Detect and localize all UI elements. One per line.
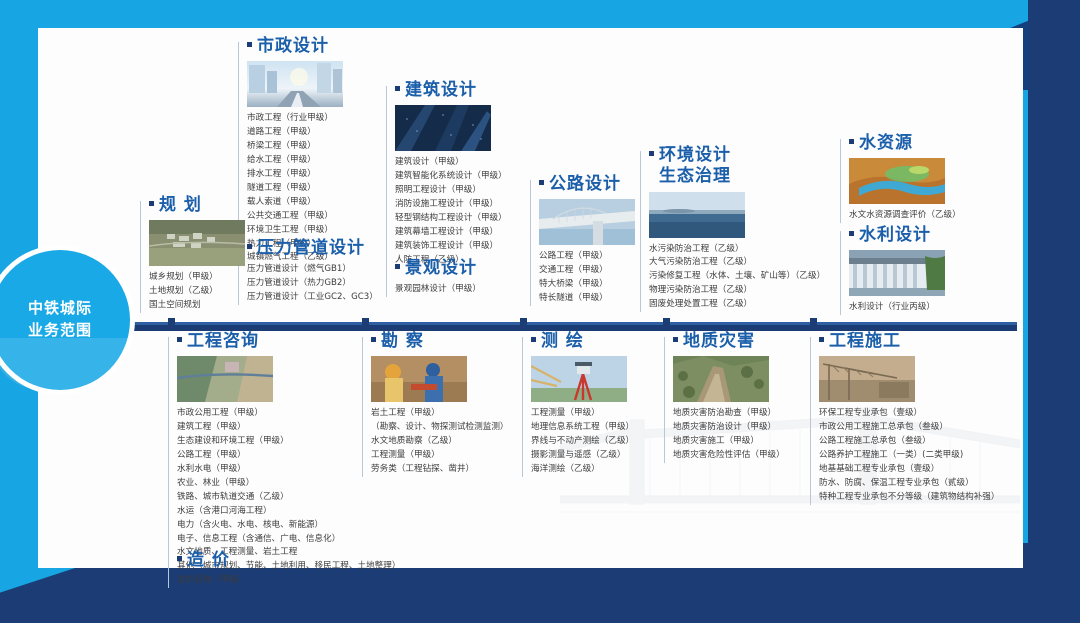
block-item-list: 造价咨询（甲级） xyxy=(177,574,298,588)
thumbnail-aerial-village-photo xyxy=(149,220,245,266)
square-bullet-icon xyxy=(819,337,824,342)
connector-line xyxy=(840,231,841,315)
timeline-tick xyxy=(663,318,670,325)
timeline-bar-highlight xyxy=(92,322,1017,325)
block-item-list: 建筑设计（甲级） 建筑智能化系统设计（甲级） 照明工程设计（甲级） 消防设施工程… xyxy=(395,156,516,267)
square-bullet-icon xyxy=(371,337,376,342)
list-item: 地质灾害防治设计（甲级） xyxy=(673,421,814,435)
block-item-list: 地质灾害防治勘查（甲级） 地质灾害防治设计（甲级） 地质灾害施工（甲级） 地质灾… xyxy=(673,407,814,463)
square-bullet-icon xyxy=(849,231,854,236)
connector-line xyxy=(810,337,811,505)
block-item-list: 岩土工程（甲级） （勘察、设计、物探测试检测监测） 水文地质勘察（乙级） 工程测… xyxy=(371,407,522,477)
block-landscape-design[interactable]: 景观设计 景观园林设计（甲级） xyxy=(386,258,516,297)
thumbnail-theodolite-photo xyxy=(531,356,627,402)
connector-line xyxy=(140,201,141,313)
block-heading: 建筑设计 xyxy=(395,80,516,101)
list-item: 界线与不动产测绘（乙级） xyxy=(531,435,672,449)
block-pressure-pipe-design[interactable]: 压力管道设计 压力管道设计（燃气GB1） 压力管道设计（热力GB2） 压力管道设… xyxy=(238,238,398,305)
list-item: 岩土工程（甲级） xyxy=(371,407,522,421)
block-water-conservancy-design[interactable]: 水利设计 水 xyxy=(840,225,970,315)
list-item: 物理污染防治工程（乙级） xyxy=(649,284,830,298)
thumbnail-survey-worker-photo xyxy=(371,356,467,402)
block-surveying-mapping[interactable]: 测 绘 工程测量（甲级） 地理信息系统工程（甲 xyxy=(522,331,672,477)
list-item: 地质灾害防治勘查（甲级） xyxy=(673,407,814,421)
bubble-title-line2: 业务范围 xyxy=(28,320,92,342)
list-item: 建筑智能化系统设计（甲级） xyxy=(395,170,516,184)
connector-line xyxy=(362,337,363,477)
list-item: 水污染防治工程（乙级） xyxy=(649,243,830,257)
list-item: 景观园林设计（甲级） xyxy=(395,283,516,297)
block-water-resources[interactable]: 水资源 水文水资源调查评价（乙级） xyxy=(840,133,970,223)
square-bullet-icon xyxy=(149,201,154,206)
list-item: 防水、防腐、保温工程专业承包（贰级） xyxy=(819,477,1040,491)
block-item-list: 水利设计（行业丙级） xyxy=(849,301,970,315)
timeline-tick xyxy=(810,318,817,325)
connector-line xyxy=(386,86,387,268)
block-heading: 公路设计 xyxy=(539,174,640,195)
square-bullet-icon xyxy=(395,86,400,91)
block-heading: 景观设计 xyxy=(395,258,516,279)
block-environment-design[interactable]: 环境设计 生态治理 水污染防治工程（乙级） 大气污染防治工程（乙级） 污染修复工… xyxy=(640,145,830,312)
square-bullet-icon xyxy=(649,151,654,156)
list-item: 建筑设计（甲级） xyxy=(395,156,516,170)
list-item: 固废处理处置工程（乙级） xyxy=(649,298,830,312)
list-item: 大气污染防治工程（乙级） xyxy=(649,256,830,270)
list-item: 载人索道（甲级） xyxy=(247,196,358,210)
block-heading-line2: 生态治理 xyxy=(649,166,830,187)
block-planning[interactable]: 规 划 城乡规划（甲级） 土地规划（乙级） 国土 xyxy=(140,195,260,313)
block-item-list: 景观园林设计（甲级） xyxy=(395,283,516,297)
list-item: 排水工程（甲级） xyxy=(247,168,358,182)
list-item: 国土空间规划 xyxy=(149,299,260,313)
list-item: 特大桥梁（甲级） xyxy=(539,278,640,292)
connector-line xyxy=(840,139,841,223)
square-bullet-icon xyxy=(531,337,536,342)
thumbnail-city-road-photo xyxy=(247,61,343,107)
block-item-list: 压力管道设计（燃气GB1） 压力管道设计（热力GB2） 压力管道设计（工业GC2… xyxy=(247,263,398,305)
list-item: 铁路、城市轨道交通（乙级） xyxy=(177,491,418,505)
block-item-list: 公路工程（甲级） 交通工程（甲级） 特大桥梁（甲级） 特长隧道（甲级） xyxy=(539,250,640,306)
thumbnail-building-facade-photo xyxy=(395,105,491,151)
block-architecture-design[interactable]: 建筑设计 建筑设计（甲级） 建筑智能化系统设计（甲级） xyxy=(386,80,516,268)
list-item: 工程测量（甲级） xyxy=(531,407,672,421)
block-heading: 市政设计 xyxy=(247,36,358,57)
block-highway-design[interactable]: 公路设计 公路工程（甲级） 交通工程（甲级） 特大桥梁（甲级） xyxy=(530,174,640,306)
list-item: 电力（含火电、水电、核电、新能源） xyxy=(177,519,418,533)
block-engineering-construction[interactable]: 工程施工 环保工程专业承包（壹级） 市政公用 xyxy=(810,331,1040,505)
block-heading: 测 绘 xyxy=(531,331,672,352)
list-item: 照明工程设计（甲级） xyxy=(395,184,516,198)
list-item: 地理信息系统工程（甲级） xyxy=(531,421,672,435)
square-bullet-icon xyxy=(539,180,544,185)
list-item: 农业、林业（甲级） xyxy=(177,477,418,491)
square-bullet-icon xyxy=(395,264,400,269)
list-item: 轻型钢结构工程设计（甲级） xyxy=(395,212,516,226)
connector-line xyxy=(664,337,665,463)
block-cost-estimation[interactable]: 造 价 造价咨询（甲级） xyxy=(168,550,298,588)
list-item: 建筑装饰工程设计（甲级） xyxy=(395,240,516,254)
infographic-canvas: 中铁城际 业务范围 市政设计 xyxy=(0,0,1080,623)
list-item: 水运（含港口河海工程） xyxy=(177,505,418,519)
list-item: 公路工程（甲级） xyxy=(539,250,640,264)
list-item: 地质灾害危险性评估（甲级） xyxy=(673,449,814,463)
list-item: 市政工程（行业甲级） xyxy=(247,112,358,126)
block-heading: 水资源 xyxy=(849,133,970,154)
list-item: 交通工程（甲级） xyxy=(539,264,640,278)
list-item: 环保工程专业承包（壹级） xyxy=(819,407,1040,421)
thumbnail-highway-bridge-photo xyxy=(539,199,635,245)
block-item-list: 工程测量（甲级） 地理信息系统工程（甲级） 界线与不动产测绘（乙级） 摄影测量与… xyxy=(531,407,672,477)
list-item: 压力管道设计（工业GC2、GC3） xyxy=(247,291,398,305)
thumbnail-dam-spillway-photo xyxy=(849,250,945,296)
list-item: 土地规划（乙级） xyxy=(149,285,260,299)
block-geological-hazard[interactable]: 地质灾害 地质灾害防治勘查（甲级） 地质灾害防治设计（甲级） 地质灾害施工（ xyxy=(664,331,814,463)
square-bullet-icon xyxy=(177,556,182,561)
thumbnail-construction-crane-photo xyxy=(819,356,915,402)
list-item: 道路工程（甲级） xyxy=(247,126,358,140)
block-survey[interactable]: 勘 察 岩土工程（甲级） （勘察、设计、物探测试检测监测） 水文地质勘察（乙级）… xyxy=(362,331,522,477)
block-item-list: 城乡规划（甲级） 土地规划（乙级） 国土空间规划 xyxy=(149,271,260,313)
square-bullet-icon xyxy=(177,337,182,342)
block-heading: 造 价 xyxy=(177,550,298,571)
list-item: 给水工程（甲级） xyxy=(247,154,358,168)
list-item: （勘察、设计、物探测试检测监测） xyxy=(371,421,522,435)
list-item: 隧道工程（甲级） xyxy=(247,182,358,196)
list-item: 水文地质勘察（乙级） xyxy=(371,435,522,449)
thumbnail-hydrology-map-photo xyxy=(849,158,945,204)
square-bullet-icon xyxy=(673,337,678,342)
background-navy-right-strip xyxy=(1028,0,1080,623)
bubble-title-line1: 中铁城际 xyxy=(28,298,92,320)
square-bullet-icon xyxy=(849,139,854,144)
list-item: 海洋测绘（乙级） xyxy=(531,463,672,477)
list-item: 压力管道设计（热力GB2） xyxy=(247,277,398,291)
block-heading: 水利设计 xyxy=(849,225,970,246)
block-heading: 地质灾害 xyxy=(673,331,814,352)
list-item: 特种工程专业承包不分等级（建筑物结构补强） xyxy=(819,491,1040,505)
list-item: 水文水资源调查评价（乙级） xyxy=(849,209,970,223)
timeline-tick xyxy=(362,318,369,325)
list-item: 城乡规划（甲级） xyxy=(149,271,260,285)
connector-line xyxy=(168,556,169,588)
thumbnail-lake-water-photo xyxy=(649,192,745,238)
list-item: 劳务类（工程钻探、凿井） xyxy=(371,463,522,477)
list-item: 桥梁工程（甲级） xyxy=(247,140,358,154)
connector-line xyxy=(530,180,531,306)
list-item: 地基基础工程专业承包（壹级） xyxy=(819,463,1040,477)
timeline-tick xyxy=(168,318,175,325)
block-heading: 环境设计 xyxy=(649,145,830,166)
block-item-list: 环保工程专业承包（壹级） 市政公用工程施工总承包（叁级） 公路工程施工总承包（叁… xyxy=(819,407,1040,504)
thumbnail-landslide-terrain-photo xyxy=(673,356,769,402)
list-item: 公共交通工程（甲级） xyxy=(247,210,358,224)
connector-line xyxy=(168,337,169,574)
timeline-tick xyxy=(520,318,527,325)
block-item-list: 水污染防治工程（乙级） 大气污染防治工程（乙级） 污染修复工程（水体、土壤、矿山… xyxy=(649,243,830,313)
connector-line xyxy=(522,337,523,477)
thumbnail-satellite-land-photo xyxy=(177,356,273,402)
list-item: 公路工程施工总承包（叁级） xyxy=(819,435,1040,449)
list-item: 公路养护工程施工（一类）(二类甲级) xyxy=(819,449,1040,463)
connector-line xyxy=(640,151,641,312)
list-item: 电子、信息工程（含通信、广电、信息化） xyxy=(177,533,418,547)
list-item: 摄影测量与遥感（乙级） xyxy=(531,449,672,463)
list-item: 建筑幕墙工程设计（甲级） xyxy=(395,226,516,240)
block-item-list: 水文水资源调查评价（乙级） xyxy=(849,209,970,223)
block-heading: 压力管道设计 xyxy=(247,238,398,259)
list-item: 地质灾害施工（甲级） xyxy=(673,435,814,449)
block-heading: 勘 察 xyxy=(371,331,522,352)
connector-line xyxy=(386,264,387,297)
list-item: 水利设计（行业丙级） xyxy=(849,301,970,315)
center-bubble: 中铁城际 业务范围 xyxy=(0,250,130,390)
square-bullet-icon xyxy=(247,42,252,47)
list-item: 消防设施工程设计（甲级） xyxy=(395,198,516,212)
block-heading: 规 划 xyxy=(149,195,260,216)
list-item: 压力管道设计（燃气GB1） xyxy=(247,263,398,277)
list-item: 造价咨询（甲级） xyxy=(177,574,298,588)
list-item: 工程测量（甲级） xyxy=(371,449,522,463)
list-item: 特长隧道（甲级） xyxy=(539,292,640,306)
list-item: 环境卫生工程（甲级） xyxy=(247,224,358,238)
block-heading: 工程施工 xyxy=(819,331,1040,352)
list-item: 市政公用工程施工总承包（叁级） xyxy=(819,421,1040,435)
list-item: 污染修复工程（水体、土壤、矿山等）（乙级） xyxy=(649,270,830,284)
